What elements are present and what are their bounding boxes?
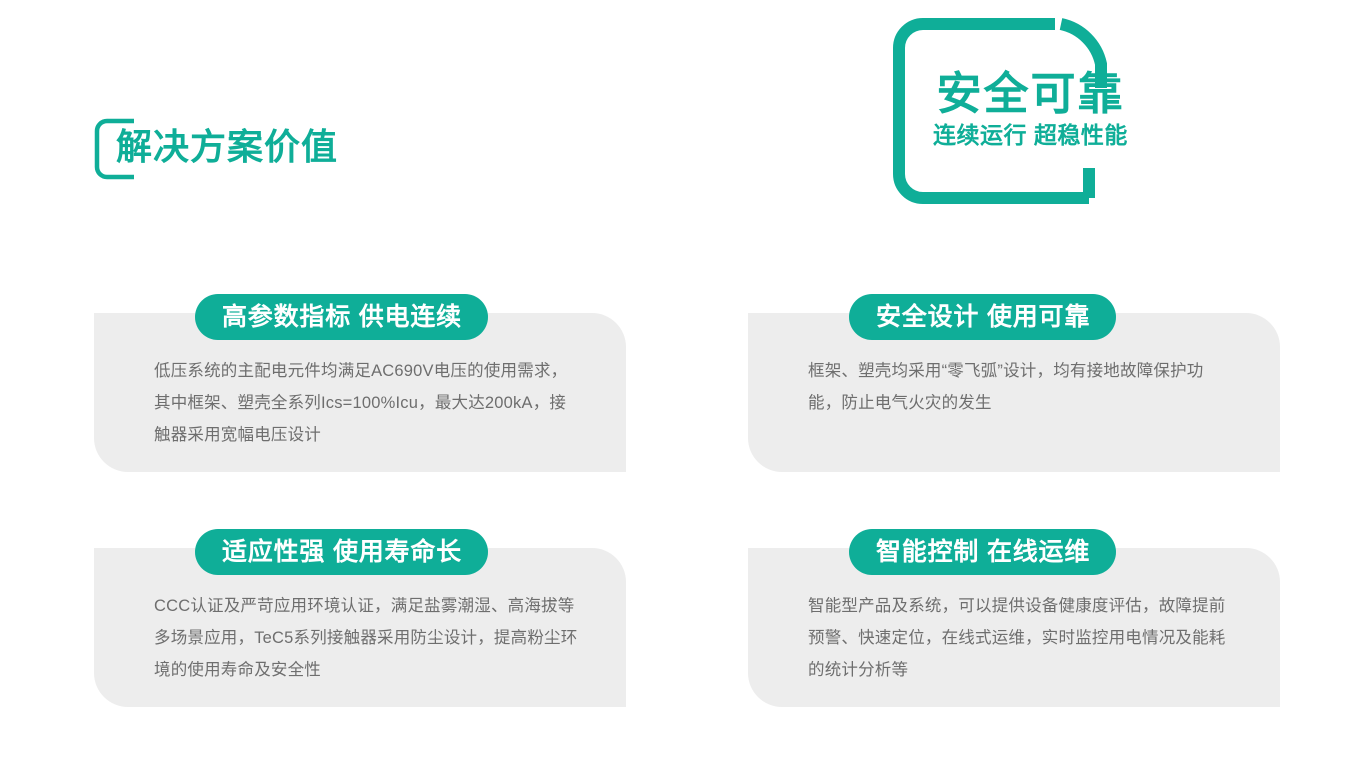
emblem-title: 安全可靠 — [893, 70, 1168, 118]
feature-card-title-pill: 高参数指标 供电连续 — [195, 294, 488, 340]
feature-card-title-pill: 适应性强 使用寿命长 — [195, 529, 488, 575]
feature-card-body: CCC认证及严苛应用环境认证，满足盐雾潮湿、高海拔等多场景应用，TeC5系列接触… — [154, 590, 582, 686]
feature-card-title-pill: 安全设计 使用可靠 — [849, 294, 1116, 340]
feature-card-body: 框架、塑壳均采用“零飞弧”设计，均有接地故障保护功能，防止电气火灾的发生 — [808, 355, 1236, 419]
feature-card-title: 适应性强 使用寿命长 — [222, 540, 462, 565]
feature-card-title-pill: 智能控制 在线运维 — [849, 529, 1116, 575]
emblem-text: 安全可靠 连续运行 超稳性能 — [893, 70, 1168, 148]
feature-card-title: 智能控制 在线运维 — [876, 540, 1090, 565]
page-title-text: 解决方案价值 — [116, 129, 338, 165]
feature-card-title: 安全设计 使用可靠 — [876, 305, 1090, 330]
feature-card-body: 智能型产品及系统，可以提供设备健康度评估，故障提前预警、快速定位，在线式运维，实… — [808, 590, 1236, 686]
emblem: 安全可靠 连续运行 超稳性能 — [893, 18, 1168, 204]
feature-card-body: 低压系统的主配电元件均满足AC690V电压的使用需求，其中框架、塑壳全系列Ics… — [154, 355, 582, 451]
emblem-subtitle: 连续运行 超稳性能 — [893, 123, 1168, 148]
slide-canvas: 解决方案价值 安全可靠 连续运行 超稳性能 高参数指标 供电连续 低压系统的主配… — [0, 0, 1350, 782]
page-title: 解决方案价值 — [94, 112, 338, 182]
feature-card-title: 高参数指标 供电连续 — [222, 305, 462, 330]
